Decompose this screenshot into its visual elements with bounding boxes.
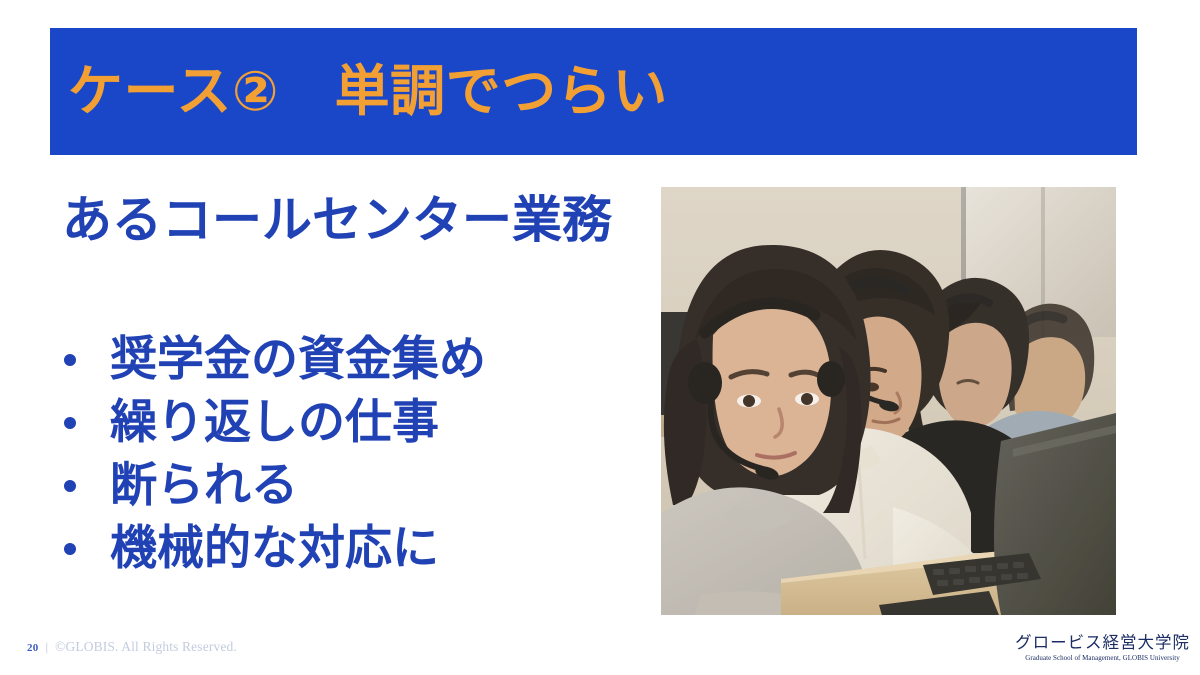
bullet-label: 繰り返しの仕事	[110, 399, 439, 446]
call-center-photo-illustration	[661, 187, 1116, 615]
globis-logo: グロービス経営大学院 Graduate School of Management…	[1015, 633, 1190, 663]
footer-left-group: 20 | ©GLOBIS. All Rights Reserved.	[27, 639, 237, 655]
section-subheading: あるコールセンター業務	[62, 192, 612, 248]
title-bar: ケース② 単調でつらい	[50, 28, 1137, 155]
bullet-label: 機械的な対応に	[110, 525, 439, 572]
bullet-dot-icon	[64, 417, 76, 429]
bullet-dot-icon	[64, 543, 76, 555]
list-item: 機械的な対応に	[58, 517, 486, 580]
logo-japanese-name: グロービス経営大学院	[1015, 633, 1190, 652]
bullet-list: 奨学金の資金集め 繰り返しの仕事 断られる 機械的な対応に	[58, 328, 486, 580]
page-number: 20	[27, 642, 38, 654]
copyright-text: ©GLOBIS. All Rights Reserved.	[55, 639, 237, 655]
footer-divider: |	[45, 639, 48, 655]
logo-english-name: Graduate School of Management, GLOBIS Un…	[1015, 654, 1190, 662]
list-item: 奨学金の資金集め	[58, 328, 486, 391]
bullet-label: 奨学金の資金集め	[110, 336, 486, 383]
slide-canvas: ケース② 単調でつらい あるコールセンター業務 奨学金の資金集め 繰り返しの仕事…	[0, 0, 1200, 675]
list-item: 断られる	[58, 454, 486, 517]
call-center-photo	[661, 187, 1116, 615]
page-title: ケース② 単調でつらい	[68, 61, 668, 122]
bullet-label: 断られる	[110, 462, 298, 509]
list-item: 繰り返しの仕事	[58, 391, 486, 454]
content-left-column: あるコールセンター業務 奨学金の資金集め 繰り返しの仕事 断られる 機械的な対応…	[0, 180, 650, 600]
bullet-dot-icon	[64, 480, 76, 492]
bullet-dot-icon	[64, 354, 76, 366]
slide-footer: 20 | ©GLOBIS. All Rights Reserved. グロービス…	[0, 625, 1200, 675]
